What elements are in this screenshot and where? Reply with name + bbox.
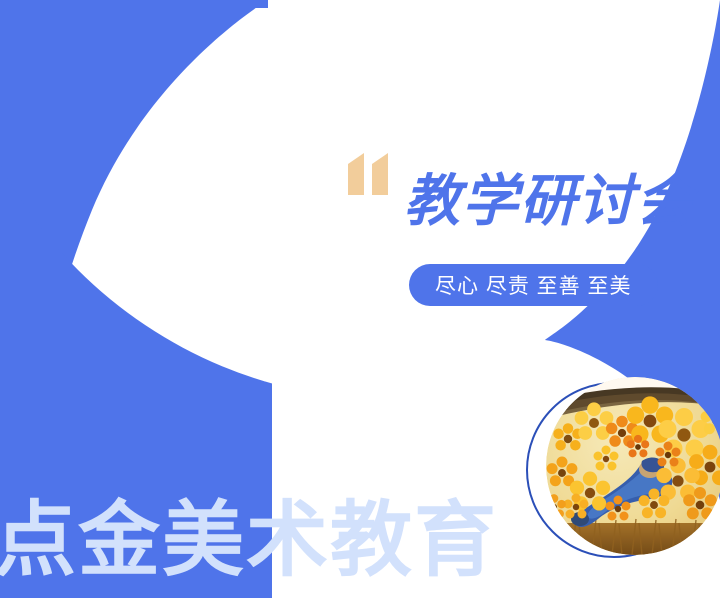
tagline-text: 尽心 尽责 至善 至美 <box>435 270 632 300</box>
tagline-badge: 尽心 尽责 至善 至美 <box>409 264 658 306</box>
quote-mark-glyph <box>348 153 394 195</box>
poster-canvas: 教学研讨会 尽心 尽责 至善 至美 点金美术教育 <box>0 0 720 598</box>
brand-watermark: 点金美术教育 <box>0 498 498 584</box>
page-title: 教学研讨会 <box>404 170 694 232</box>
floral-artwork-illustration <box>546 377 720 555</box>
floral-artwork-photo <box>546 377 720 555</box>
quote-mark-icon <box>348 153 394 195</box>
